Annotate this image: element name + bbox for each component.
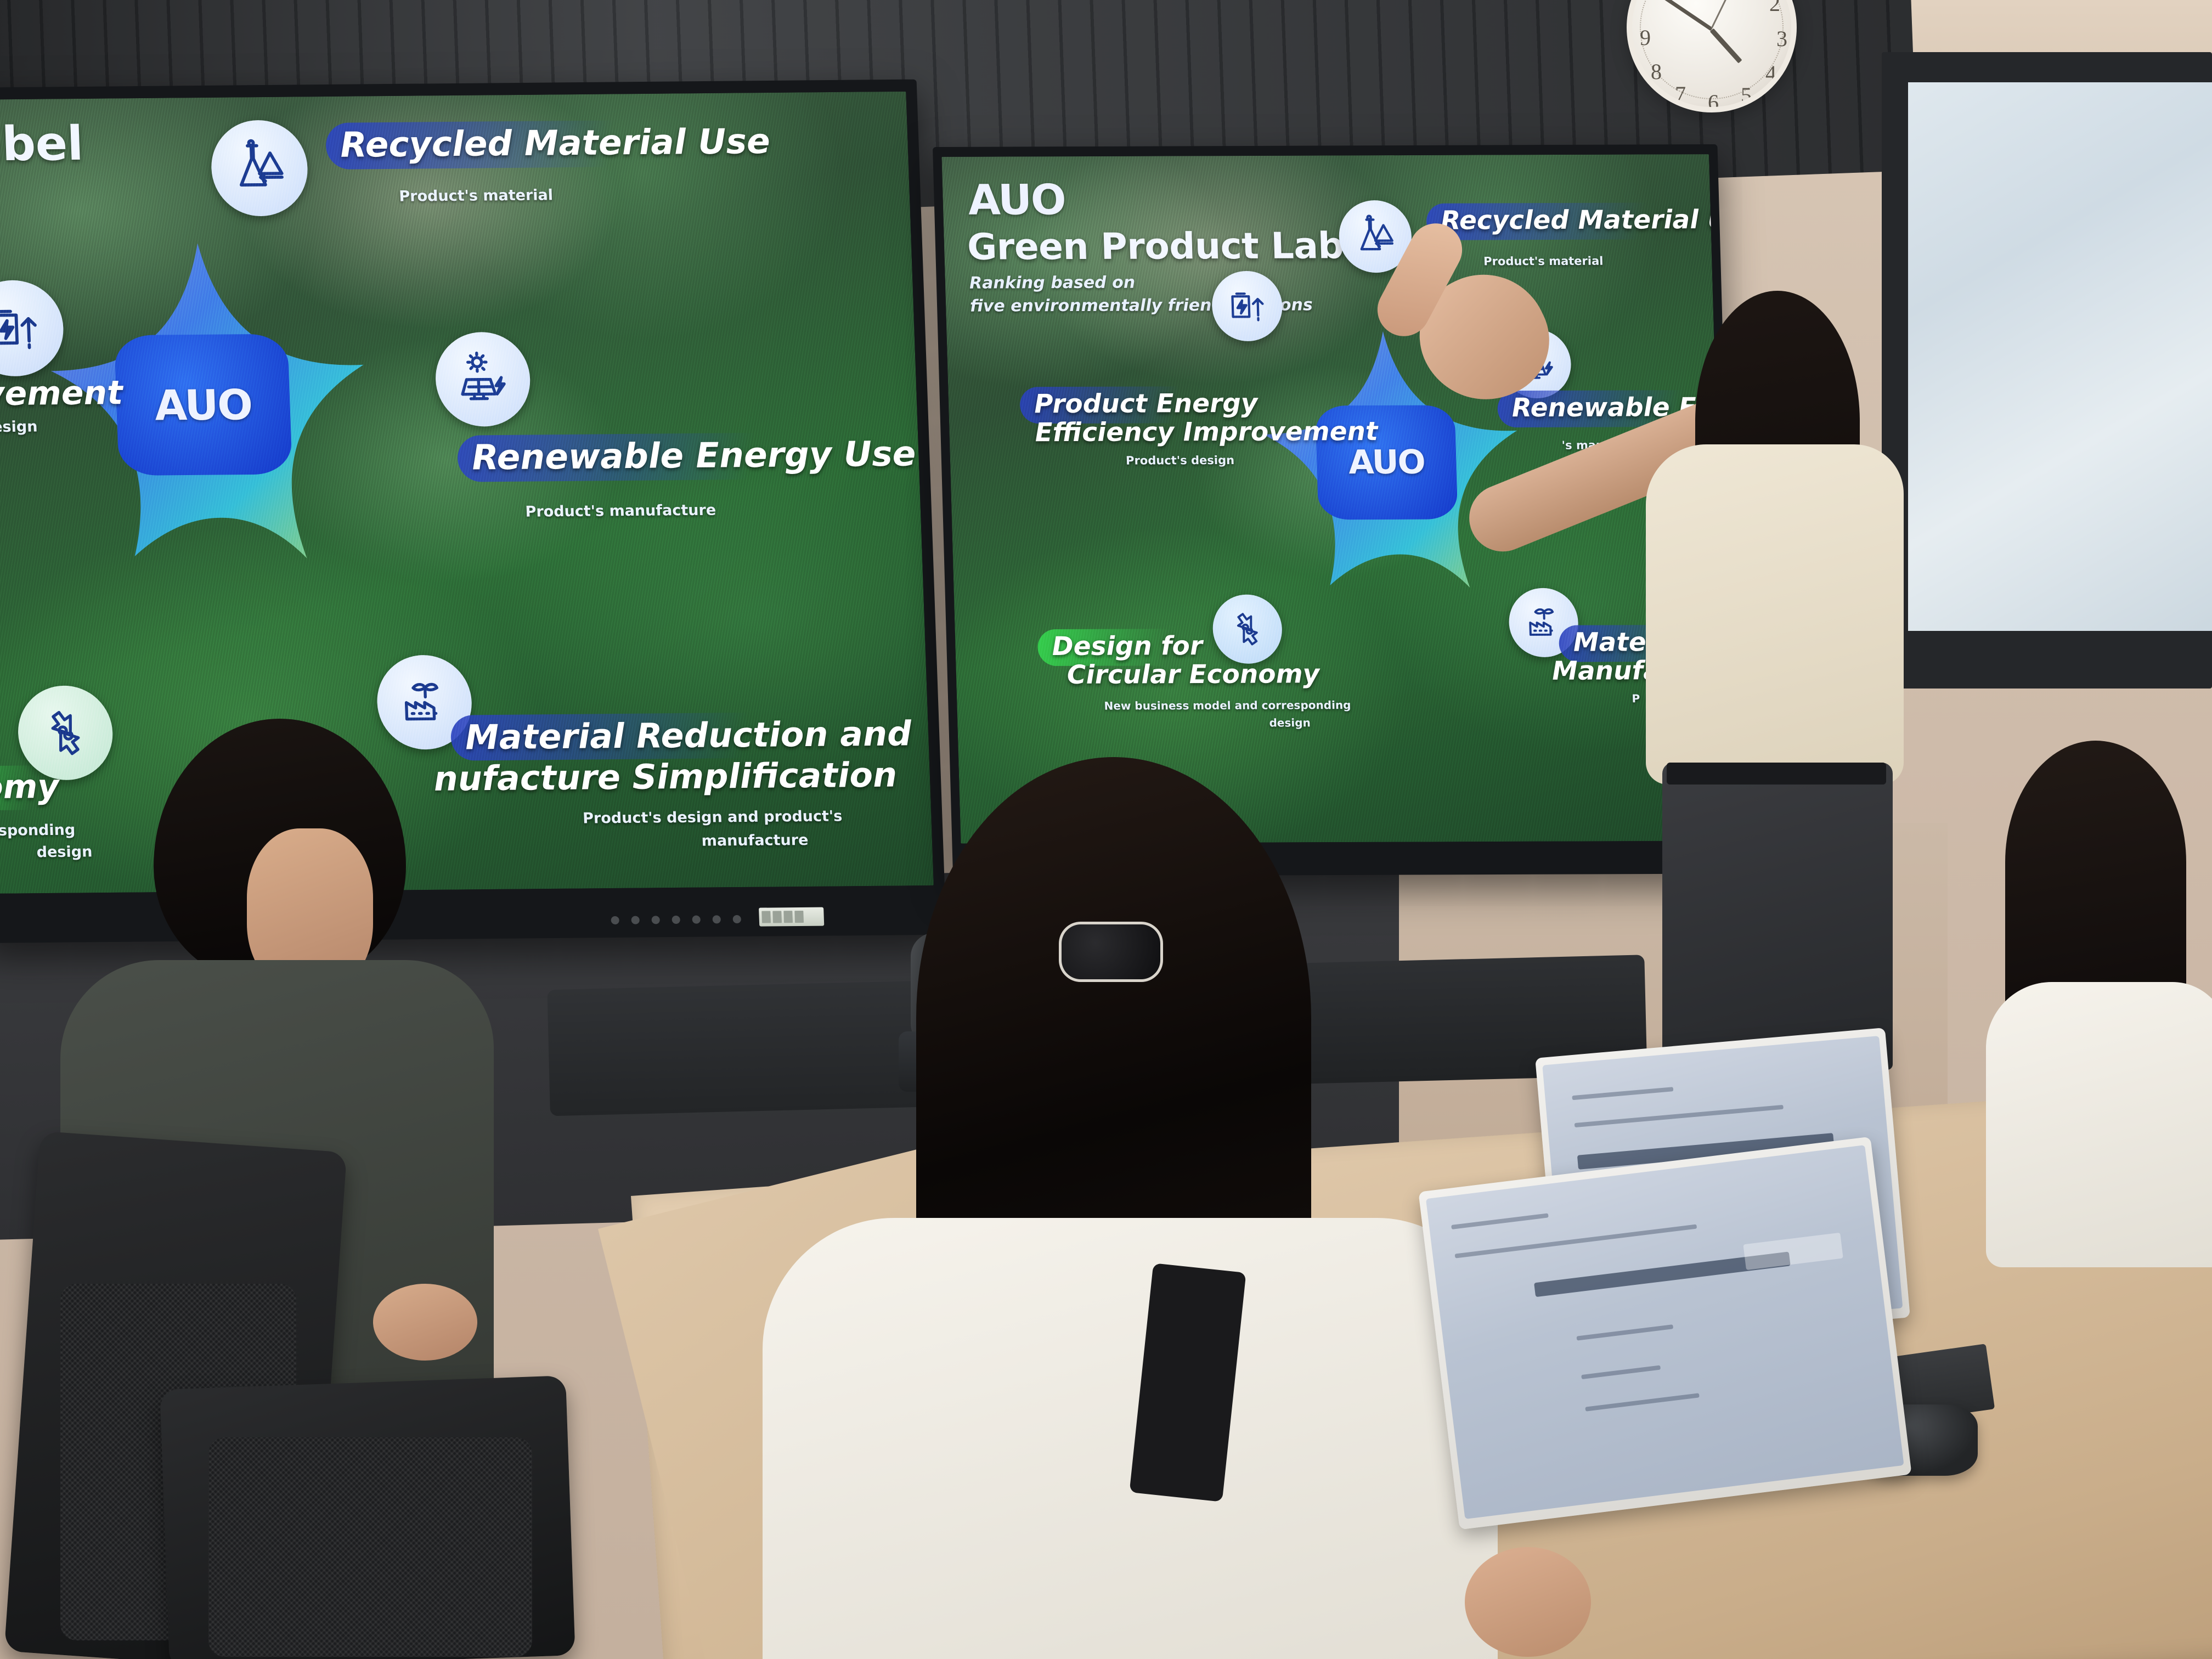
bezel-button-source[interactable] (631, 916, 640, 924)
laptop-center-lid (1418, 1137, 1911, 1530)
battery-up-arrow-icon-right[interactable] (1211, 271, 1284, 341)
caption-circular-economy-right-2: design (1269, 716, 1311, 729)
clock-numeral-3: 3 (1776, 26, 1787, 52)
solar-panel-icon[interactable] (434, 332, 532, 427)
laptop-center-screen[interactable] (1426, 1145, 1904, 1519)
left-display-bezel-buttons[interactable] (611, 915, 741, 924)
presenter-skirt (1662, 763, 1893, 1070)
caption-recycled-material-use: Product's material (399, 187, 554, 205)
laptop-center[interactable] (1418, 1137, 1911, 1530)
clock-numeral-9: 9 (1640, 25, 1651, 50)
auo-wordmark-right: AUO (967, 175, 1065, 224)
bezel-button-volume-down[interactable] (733, 915, 742, 923)
caption-circular-economy-1: corresponding (0, 822, 76, 840)
pill-product-energy-efficiency-right-l2[interactable]: Efficiency Improvement (1020, 414, 1393, 452)
pill-design-circular-economy[interactable]: onomy (0, 765, 74, 811)
clock-numeral-6: 6 (1708, 89, 1719, 112)
sticker-box-4 (794, 911, 804, 923)
caption-material-reduction-2: manufacture (701, 832, 809, 850)
right-slide-title: Green Product Label (967, 224, 1380, 268)
pill-recycled-material-use-right[interactable]: Recycled Material Use (1426, 202, 1728, 240)
pill-product-energy-efficiency-l2[interactable]: provement (0, 371, 138, 418)
auo-wordmark: AUO (154, 380, 252, 430)
laptop-right-screen-row (1575, 1104, 1784, 1127)
laptop-center-screen-row (1581, 1365, 1661, 1379)
laptop-right-screen-row (1572, 1087, 1674, 1100)
auo-logo-center: AUO (114, 334, 293, 476)
caption-recycled-material-use-right: Product's material (1483, 255, 1604, 268)
office-chair-mesh-center (208, 1437, 532, 1657)
sticker-box-2 (772, 911, 782, 923)
caption-product-energy-efficiency: duct's design (0, 418, 38, 436)
laptop-center-screen-block (1743, 1233, 1843, 1270)
caption-product-energy-efficiency-right: Product's design (1126, 454, 1235, 467)
presenter-blouse (1646, 444, 1904, 785)
sticker-box-1 (761, 911, 771, 923)
energy-rating-sticker (759, 907, 824, 927)
pill-renewable-energy-use[interactable]: Renewable Energy Use (457, 431, 931, 482)
caption-renewable-energy-use: Product's manufacture (525, 502, 716, 521)
bezel-button-menu[interactable] (651, 916, 660, 924)
attendee-center-hand (1465, 1547, 1591, 1657)
bezel-button-power[interactable] (611, 916, 619, 924)
presenter (1624, 455, 2008, 1086)
clock-numeral-4: 4 (1765, 60, 1776, 86)
flask-recycle-icon[interactable] (210, 120, 309, 216)
attendee-left-hand (373, 1284, 477, 1361)
presenter-belt (1667, 763, 1886, 785)
clock-numeral-5: 5 (1741, 82, 1752, 108)
pill-recycled-material-use[interactable]: Recycled Material Use (325, 119, 786, 170)
attendee-right (1986, 746, 2212, 1240)
bezel-button-up[interactable] (672, 916, 680, 924)
laptop-center-screen-row (1455, 1224, 1697, 1258)
caption-circular-economy-right-1: New business model and corresponding (1104, 698, 1351, 713)
left-slide-title-fragment: Label (0, 116, 84, 172)
sticker-box-3 (783, 911, 793, 923)
laptop-center-screen-row (1585, 1393, 1700, 1411)
clock-numeral-8: 8 (1651, 59, 1662, 84)
attendee-center-tshirt (763, 1218, 1498, 1659)
right-slide-subtitle-1: Ranking based on (969, 270, 1135, 296)
attendee-right-blouse (1986, 982, 2212, 1267)
laptop-center-screen-row (1576, 1324, 1673, 1341)
clock-numeral-2: 2 (1769, 0, 1780, 16)
bezel-button-volume-up[interactable] (712, 915, 721, 923)
meeting-room-photo: 12 1 2 3 4 5 6 7 8 9 10 11 Label (0, 0, 2212, 1659)
laptop-center-screen-row (1451, 1213, 1548, 1229)
caption-material-reduction-1: Product's design and product's (583, 808, 843, 827)
bezel-button-down[interactable] (692, 916, 701, 924)
hair-clip (1059, 922, 1163, 982)
clock-numeral-7: 7 (1675, 81, 1686, 107)
pill-design-circular-economy-right-l2[interactable]: Circular Economy (1052, 657, 1334, 694)
